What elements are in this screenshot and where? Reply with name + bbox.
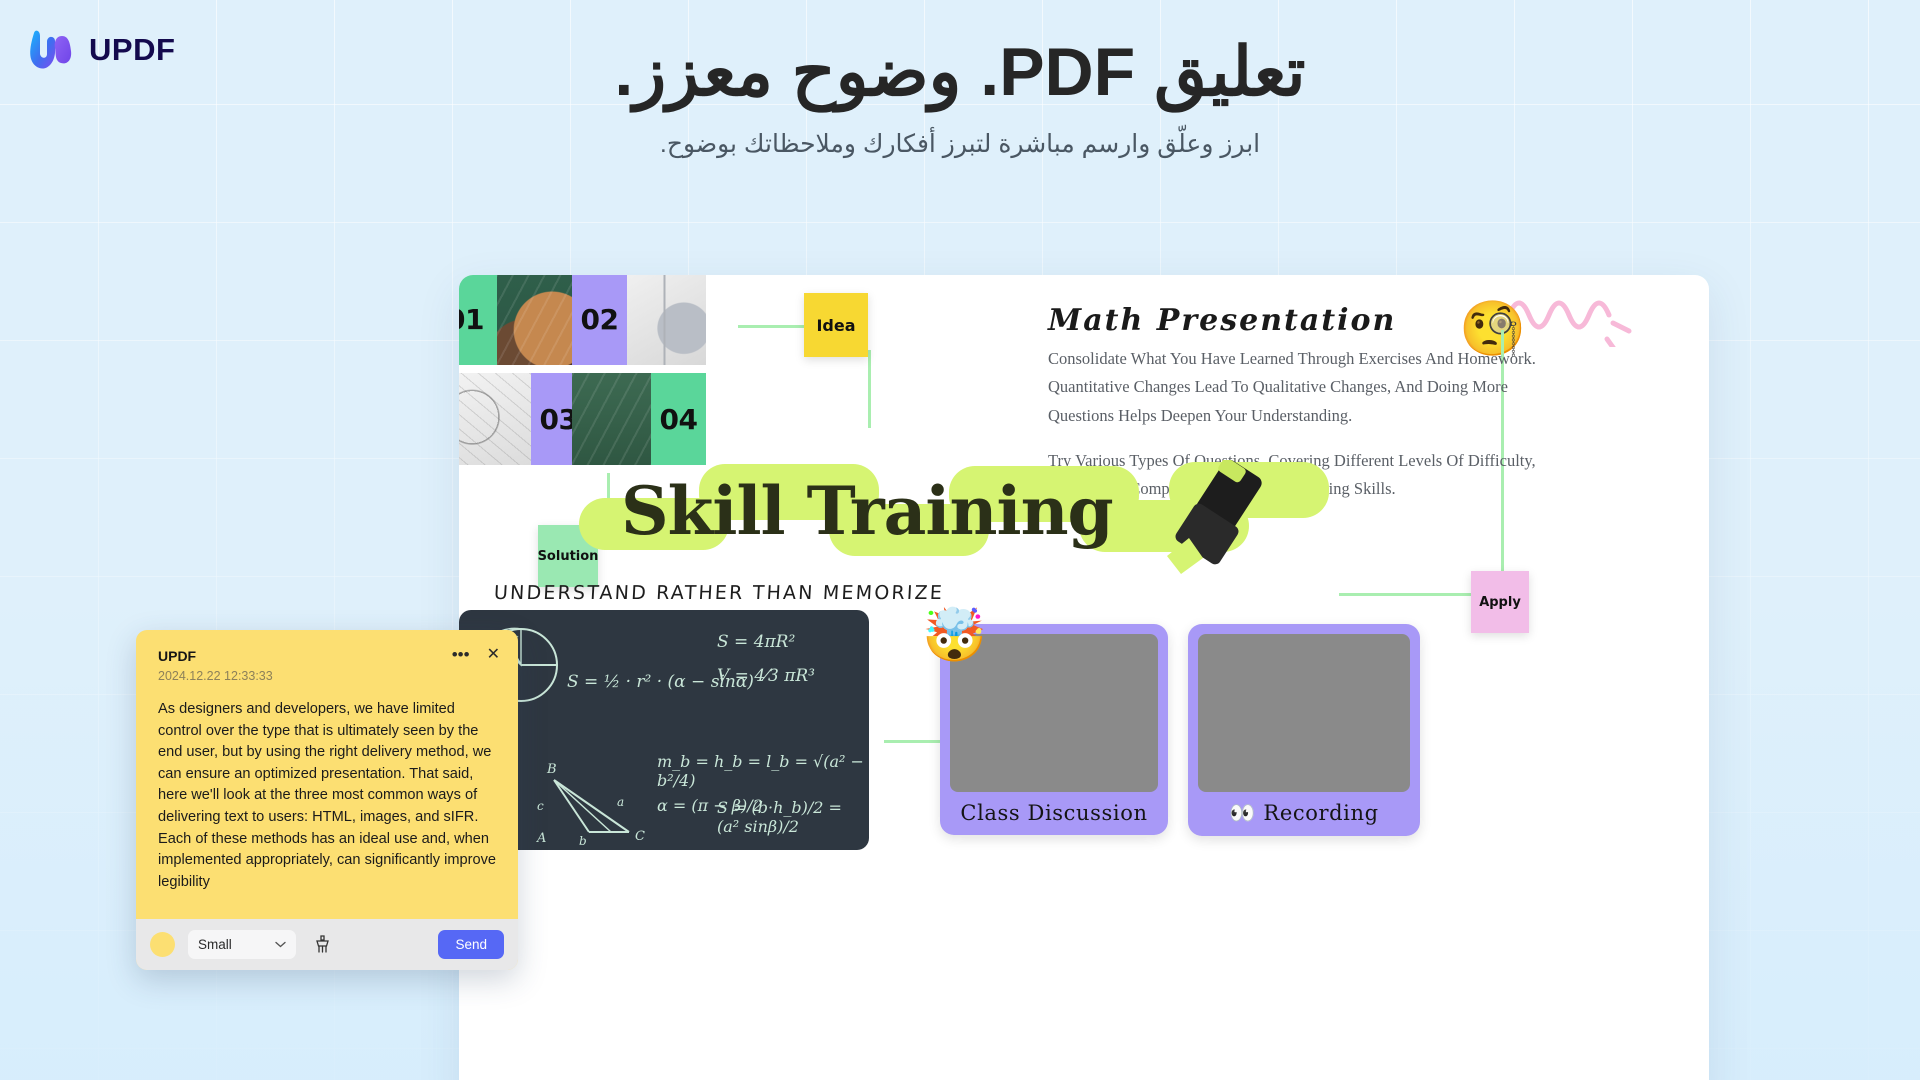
mind-blown-emoji: 🤯 (922, 605, 987, 666)
photo-card-caption: Class Discussion (950, 792, 1158, 835)
updf-logo[interactable]: UPDF (26, 27, 175, 73)
blackboard-formula: V = 4⁄3 πR³ (717, 666, 815, 686)
image-block-number: 01 (459, 275, 497, 365)
blackboard-figure: B A C c b a S = ½ · r² · (α − sinα) S = … (459, 610, 869, 850)
photo-recording-session (1198, 634, 1410, 792)
photo-card-recording[interactable]: 👀 Recording (1188, 624, 1420, 836)
photo-drawing-tools (627, 275, 706, 365)
svg-text:A: A (536, 831, 546, 846)
comment-note-panel[interactable]: UPDF 2024.12.22 12:33:33 ••• ✕ As design… (136, 630, 518, 970)
photo-students-blackboard (572, 373, 651, 465)
note-body-text[interactable]: As designers and developers, we have lim… (136, 683, 518, 919)
svg-text:c: c (537, 799, 544, 813)
note-color-swatch[interactable] (150, 932, 175, 957)
svg-text:C: C (635, 829, 645, 844)
math-presentation-paragraph-1: Consolidate What You Have Learned Throug… (1048, 345, 1548, 430)
svg-text:a: a (617, 795, 624, 809)
connector-line (738, 325, 804, 328)
close-icon[interactable]: ✕ (487, 647, 500, 663)
note-author: UPDF (158, 648, 496, 664)
chevron-down-icon (275, 941, 286, 948)
note-header: UPDF 2024.12.22 12:33:33 ••• ✕ (136, 630, 518, 683)
send-button[interactable]: Send (438, 930, 504, 959)
document-canvas[interactable]: 🧐 01 02 03 04 Idea Solution Apply Practi… (459, 275, 1709, 1080)
sticky-note-apply[interactable]: Apply (1471, 571, 1529, 633)
blackboard-formula: S = (b·h_b)/2 = (a² sinβ)/2 (717, 798, 869, 836)
image-block-02: 02 (572, 275, 706, 365)
math-presentation-title: Math Presentation (1048, 303, 1396, 338)
blackboard-formula: S = 4πR² (717, 632, 795, 652)
connector-line (868, 350, 871, 428)
highlighter-pen-icon (1159, 460, 1279, 580)
image-block-03: 03 (459, 373, 586, 465)
note-size-value: Small (198, 937, 232, 952)
note-timestamp: 2024.12.22 12:33:33 (158, 669, 496, 683)
hero-section: تعليق PDF. وضوح معزز. ابرز وعلّق وارسم م… (0, 30, 1920, 159)
image-block-number: 02 (572, 275, 627, 365)
note-size-select[interactable]: Small (188, 930, 296, 959)
page-subtitle: ابرز وعلّق وارسم مباشرة لتبرز أفكارك ومل… (0, 129, 1920, 159)
blackboard-formula: m_b = h_b = l_b = √(a² − b²/4) (657, 752, 869, 790)
note-header-actions: ••• ✕ (452, 646, 500, 663)
image-block-04: 04 (572, 373, 706, 465)
skill-training-title: Skill Training (621, 472, 1113, 550)
photo-card-caption: 👀 Recording (1198, 792, 1410, 836)
updf-logo-icon (26, 27, 76, 73)
photo-card-caption-text: Recording (1263, 801, 1378, 825)
svg-text:b: b (579, 834, 587, 848)
clear-broom-icon[interactable] (309, 932, 335, 958)
photo-geometry-draft (459, 373, 531, 465)
note-footer-toolbar: Small Send (136, 919, 518, 970)
more-options-icon[interactable]: ••• (452, 646, 470, 663)
eyes-emoji: 👀 (1229, 801, 1256, 825)
image-block-01: 01 (459, 275, 586, 365)
updf-logo-text: UPDF (89, 32, 175, 68)
image-block-number: 04 (651, 373, 706, 465)
page-title: تعليق PDF. وضوح معزز. (0, 30, 1920, 115)
svg-text:B: B (546, 762, 557, 777)
handwritten-note: UNDERSTAND RATHER THAN MEMORIZE (493, 582, 944, 604)
sticky-note-idea[interactable]: Idea (804, 293, 868, 357)
